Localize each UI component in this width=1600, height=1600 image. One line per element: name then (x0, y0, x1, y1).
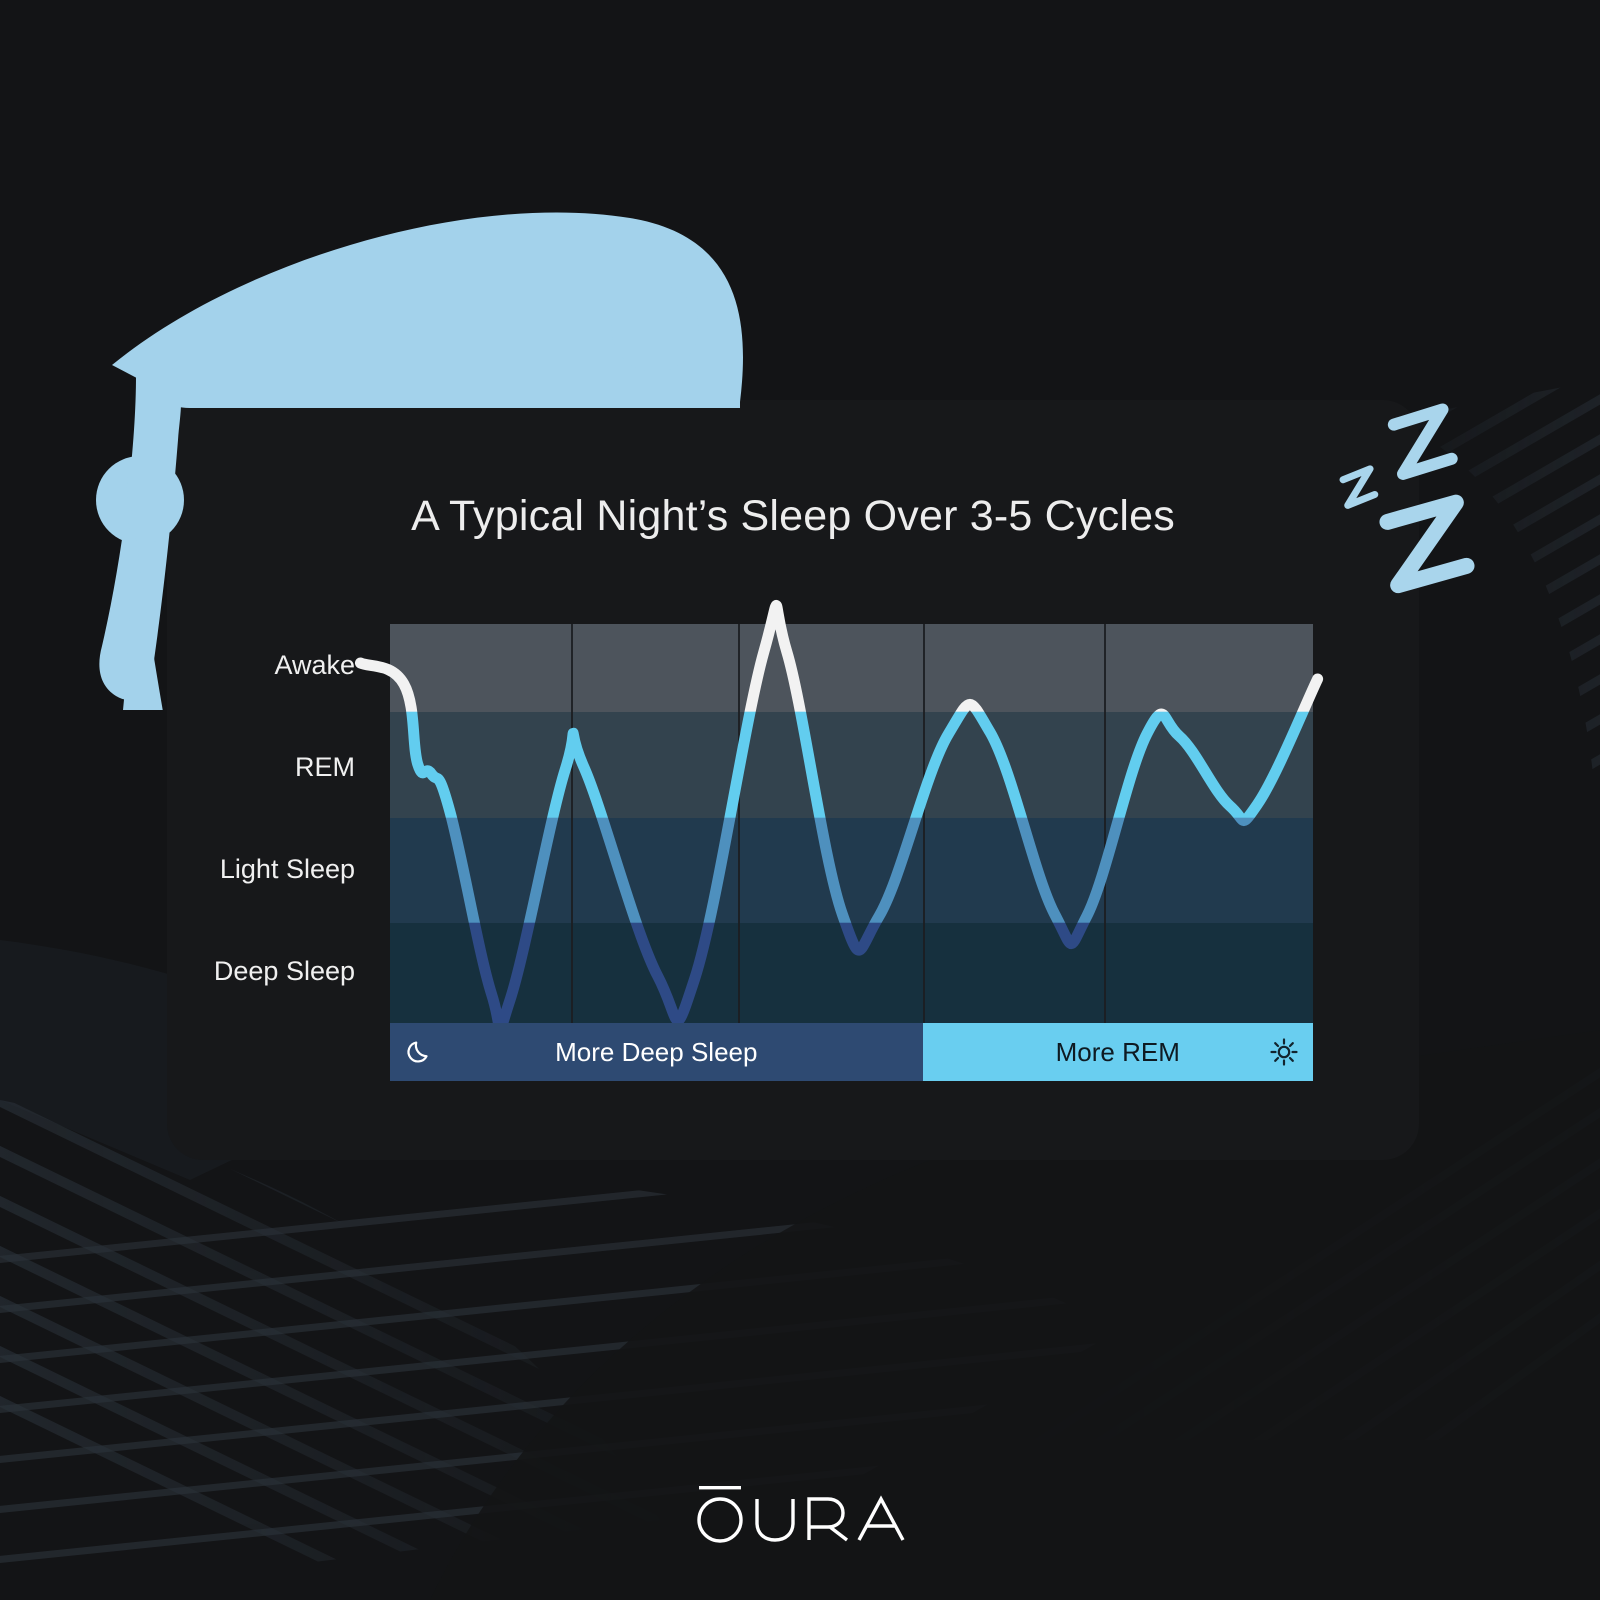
oura-wordmark (685, 1478, 915, 1548)
y-label-rem: REM (155, 752, 355, 783)
y-axis-labels: Awake REM Light Sleep Deep Sleep (145, 600, 355, 1040)
sleep-curve (360, 624, 1343, 1023)
sleep-cycle-chart (390, 624, 1313, 1023)
legend-deep-sleep-label: More Deep Sleep (448, 1037, 865, 1068)
y-label-awake: Awake (155, 650, 355, 681)
y-label-light-sleep: Light Sleep (155, 854, 355, 885)
legend-deep-sleep[interactable]: More Deep Sleep (390, 1023, 923, 1081)
sleep-legend-bar: More Deep Sleep More REM (390, 1023, 1313, 1081)
infographic-stage: A Typical Night’s Sleep Over 3-5 Cycles … (0, 0, 1600, 1600)
legend-more-rem[interactable]: More REM (923, 1023, 1313, 1081)
legend-more-rem-label: More REM (981, 1037, 1255, 1068)
page-title: A Typical Night’s Sleep Over 3-5 Cycles (167, 492, 1419, 541)
y-label-deep-sleep: Deep Sleep (155, 956, 355, 987)
sleep-stage-line (360, 605, 1317, 1029)
moon-icon (390, 1037, 448, 1067)
oura-logo (0, 1478, 1600, 1548)
sun-icon (1255, 1036, 1313, 1068)
